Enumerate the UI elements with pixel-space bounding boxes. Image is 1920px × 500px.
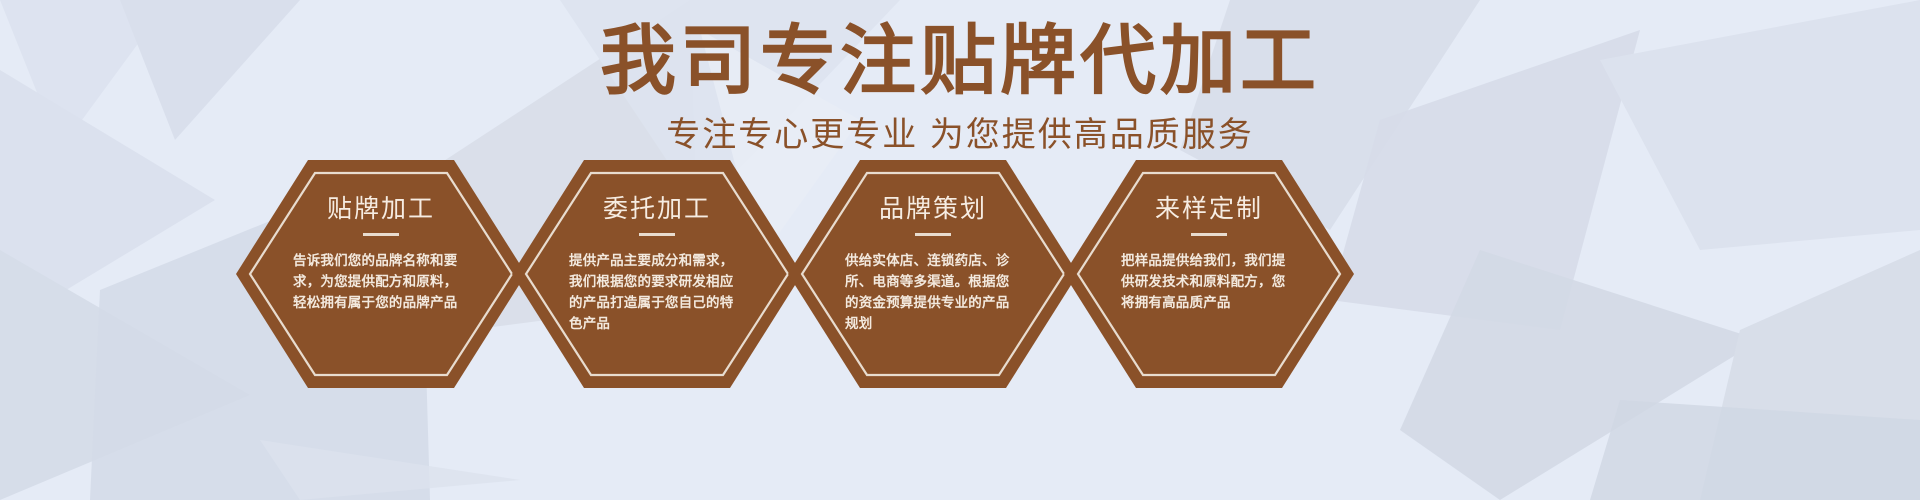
feature-card-3-content: 品牌策划 供给实体店、连锁药店、诊所、电商等多渠道。根据您的资金预算提供专业的产… [788,160,1078,388]
feature-card-3-title: 品牌策划 [879,194,987,224]
feature-card-3-body: 供给实体店、连锁药店、诊所、电商等多渠道。根据您的资金预算提供专业的产品规划 [845,250,1021,334]
feature-card-4[interactable]: 来样定制 把样品提供给我们，我们提供研发技术和原料配方，您将拥有高品质产品 [1064,160,1354,388]
title-divider [1191,233,1227,236]
promo-banner: 我司专注贴牌代加工 专注专心更专业 为您提供高品质服务 贴牌加工 告诉我们您的品… [0,0,1920,500]
feature-card-3[interactable]: 品牌策划 供给实体店、连锁药店、诊所、电商等多渠道。根据您的资金预算提供专业的产… [788,160,1078,388]
feature-card-1-body: 告诉我们您的品牌名称和要求，为您提供配方和原料，轻松拥有属于您的品牌产品 [293,250,469,313]
feature-card-2-title: 委托加工 [603,194,711,224]
feature-card-1-title: 贴牌加工 [327,194,435,224]
title-divider [363,233,399,236]
feature-card-2-body: 提供产品主要成分和需求，我们根据您的要求研发相应的产品打造属于您自己的特色产品 [569,250,745,334]
feature-card-4-title: 来样定制 [1155,194,1263,224]
feature-hexagon-row: 贴牌加工 告诉我们您的品牌名称和要求，为您提供配方和原料，轻松拥有属于您的品牌产… [0,160,1920,390]
title-divider [915,233,951,236]
feature-card-1-content: 贴牌加工 告诉我们您的品牌名称和要求，为您提供配方和原料，轻松拥有属于您的品牌产… [236,160,526,388]
page-title: 我司专注贴牌代加工 [0,0,1920,110]
page-subtitle: 专注专心更专业 为您提供高品质服务 [0,110,1920,156]
feature-card-1[interactable]: 贴牌加工 告诉我们您的品牌名称和要求，为您提供配方和原料，轻松拥有属于您的品牌产… [236,160,526,388]
feature-card-4-content: 来样定制 把样品提供给我们，我们提供研发技术和原料配方，您将拥有高品质产品 [1064,160,1354,388]
banner-heading-group: 我司专注贴牌代加工 专注专心更专业 为您提供高品质服务 [0,0,1920,156]
feature-card-4-body: 把样品提供给我们，我们提供研发技术和原料配方，您将拥有高品质产品 [1121,250,1297,313]
title-divider [639,233,675,236]
feature-card-2-content: 委托加工 提供产品主要成分和需求，我们根据您的要求研发相应的产品打造属于您自己的… [512,160,802,388]
feature-card-2[interactable]: 委托加工 提供产品主要成分和需求，我们根据您的要求研发相应的产品打造属于您自己的… [512,160,802,388]
